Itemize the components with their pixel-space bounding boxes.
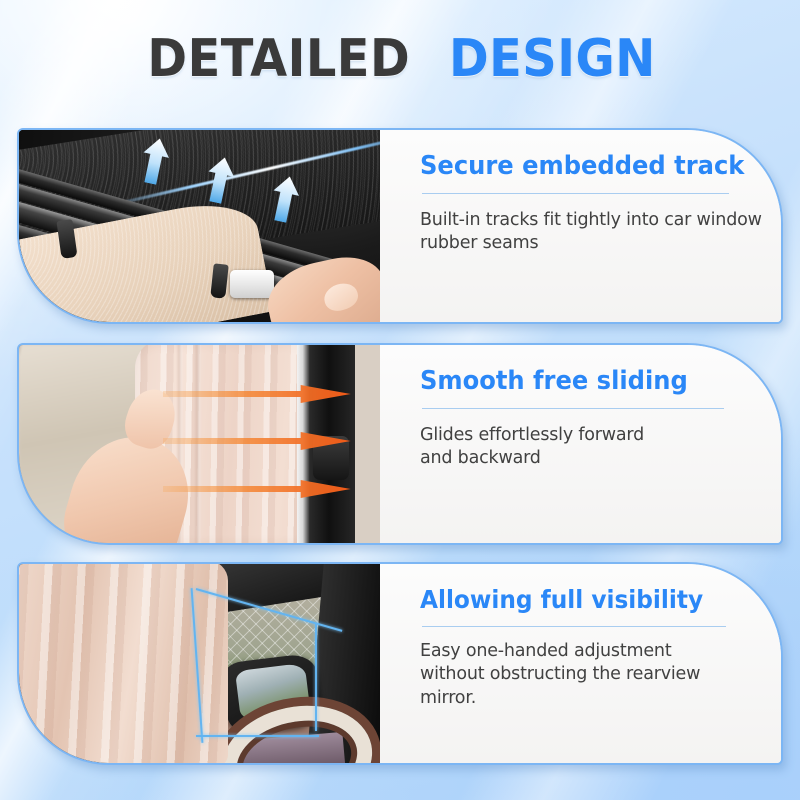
photo-full-visibility [19,564,380,763]
feature-body: Built-in tracks fit tightly into car win… [420,209,769,257]
feature-heading: Secure embedded track [420,152,744,181]
feature-body: Easy one-handed adjustment without obstr… [420,640,705,711]
visibility-outline-right [315,624,317,731]
feature-heading: Smooth free sliding [420,367,724,396]
title-primary: DETAILED [147,33,410,85]
photo-smooth-sliding [19,345,380,543]
sliding-photo-scene [19,345,380,543]
feature-text-full-visibility: Allowing full visibility Easy one-handed… [380,564,781,763]
photo-embedded-track [19,130,380,322]
title-space [422,33,439,85]
white-slider-clip [230,270,274,298]
direction-arrow-right-2 [163,432,351,450]
title-accent: DESIGN [449,33,656,85]
visibility-outline-bottom [196,735,319,737]
heading-divider [422,193,729,194]
feature-text-smooth-sliding: Smooth free sliding Glides effortlessly … [380,345,781,543]
feature-card-embedded-track[interactable]: Secure embedded track Built-in tracks fi… [17,128,783,324]
track-photo-scene [19,130,380,322]
feature-text-embedded-track: Secure embedded track Built-in tracks fi… [380,130,783,322]
heading-divider [422,626,726,627]
heading-divider [422,408,724,409]
direction-arrow-right-1 [163,385,351,403]
direction-arrow-right-3 [163,480,351,498]
feature-card-full-visibility[interactable]: Allowing full visibility Easy one-handed… [17,562,783,765]
feature-card-smooth-sliding[interactable]: Smooth free sliding Glides effortlessly … [17,343,783,545]
feature-body: Glides effortlessly forward and backward [420,424,670,472]
visibility-photo-scene [19,564,380,763]
feature-heading: Allowing full visibility [420,586,724,614]
page-title: DETAILED DESIGN [0,33,800,85]
